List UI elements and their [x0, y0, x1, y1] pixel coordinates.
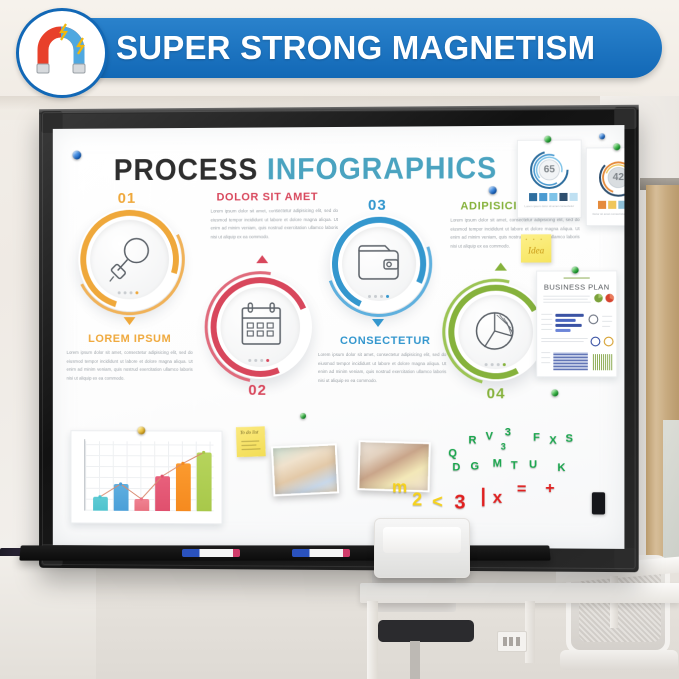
frame-corner — [614, 548, 636, 570]
step-02-dots — [248, 359, 269, 362]
gauge-value-65: 65 — [544, 164, 555, 175]
step-01-number: 01 — [118, 190, 136, 207]
idea-note[interactable]: ✦ ✦ ✦ Idea — [521, 234, 551, 262]
note-rule — [241, 440, 259, 442]
doc-pie-green — [594, 294, 603, 303]
desk-leg — [367, 601, 378, 679]
to-do-list-note[interactable]: To do list — [236, 426, 266, 457]
step-04-arrow-up — [495, 263, 507, 271]
magnetic-whiteboard[interactable]: PROCESS INFOGRAPHICS — [39, 105, 639, 572]
side-cabinet — [0, 556, 96, 679]
doc-text — [543, 296, 590, 297]
step-01-caption: LOREM IPSUM — [88, 333, 171, 345]
gauge-legend-swatches — [529, 193, 578, 201]
chart-plot — [91, 441, 215, 511]
doc-pie-red — [605, 294, 614, 303]
doc-donut — [588, 314, 599, 325]
doc-text — [541, 329, 552, 330]
marker-tray[interactable] — [19, 545, 550, 560]
letter-tile[interactable]: 3 — [505, 426, 511, 438]
doc-text — [602, 321, 612, 322]
step-04-body: Lorem ipsum dolor sit amet, consectetur … — [450, 216, 579, 251]
black-smartphone[interactable] — [592, 492, 605, 514]
magnet-dot-blue[interactable] — [72, 151, 81, 160]
business-plan-document[interactable]: BUSINESS PLAN — [536, 270, 617, 377]
step-01-arrow-down — [124, 317, 136, 325]
gauge-legend-swatches — [598, 201, 624, 209]
letter-tile[interactable]: Q — [448, 447, 457, 459]
magnet-dot-blue[interactable] — [599, 133, 605, 139]
doc-text — [602, 316, 612, 317]
doc-text — [543, 299, 588, 300]
title-process: PROCESS — [114, 151, 258, 187]
step-02-body: Lorem ipsum dolor sit amet, consectetur … — [211, 207, 338, 242]
doc-hbar — [555, 319, 575, 322]
calendar-icon — [236, 301, 286, 351]
step-03-body: Lorem ipsum dolor sit amet, consectetur … — [318, 351, 446, 385]
doc-text — [541, 352, 550, 353]
whiteboard-surface[interactable]: PROCESS INFOGRAPHICS — [53, 125, 625, 549]
doc-text — [541, 362, 550, 363]
step-01-ring[interactable] — [78, 208, 181, 312]
letter-tile[interactable]: 2 — [412, 489, 422, 510]
dry-erase-marker[interactable] — [182, 549, 240, 557]
letter-tile[interactable]: T — [511, 460, 518, 472]
wallet-icon — [354, 241, 404, 287]
doc-text — [541, 314, 552, 315]
magnet-dot-green[interactable] — [551, 389, 558, 396]
gauge-card-caption: Lorem ipsum dolor sit amet consectetur — [518, 204, 581, 209]
step-03-dots — [368, 295, 389, 298]
page-title: PROCESS INFOGRAPHICS — [114, 150, 497, 188]
step-01-body: Lorem ipsum dolor sit amet, consectetur … — [67, 349, 193, 383]
business-plan-title: BUSINESS PLAN — [537, 283, 616, 292]
note-rule — [242, 448, 261, 450]
gauge-card-42[interactable]: 42 Dolor sit amet consectetur adipisicin… — [586, 147, 625, 226]
step-01-dots — [118, 291, 139, 294]
letter-tile[interactable]: M — [493, 458, 502, 470]
wall-outlet — [497, 631, 527, 652]
doc-donut — [603, 336, 614, 347]
doc-text — [602, 326, 610, 327]
promo-banner: SUPER STRONG MAGNETISM — [48, 18, 662, 78]
promo-banner-text: SUPER STRONG MAGNETISM — [116, 29, 595, 67]
step-02-number: 02 — [248, 382, 267, 399]
letter-tile[interactable]: G — [470, 461, 479, 473]
to-do-list-text: To do list — [240, 431, 258, 437]
note-rule — [241, 445, 256, 446]
magnet-dot-green[interactable] — [544, 136, 551, 143]
doc-heatmap — [553, 352, 587, 370]
magnet-dot-green[interactable] — [300, 413, 306, 419]
step-03-number: 03 — [368, 197, 387, 214]
magnet-dot-yellow[interactable] — [137, 426, 145, 434]
chair-column — [410, 641, 420, 679]
pie-chart-icon — [470, 307, 520, 357]
letter-tile[interactable]: S — [566, 433, 573, 445]
gauge-value-42: 42 — [613, 172, 624, 183]
doc-area-chart — [593, 354, 613, 370]
letter-tile[interactable]: < — [432, 491, 443, 512]
letter-tile[interactable]: 3 — [501, 442, 506, 452]
chart-trendline — [91, 441, 215, 511]
magnet-dot-green[interactable] — [572, 266, 579, 273]
doc-hbar — [555, 324, 581, 327]
dry-erase-marker[interactable] — [292, 549, 350, 557]
bar-chart-card[interactable] — [70, 430, 222, 524]
letter-tile[interactable]: | — [481, 486, 486, 508]
doc-hbar — [555, 314, 583, 317]
step-04-dots — [485, 363, 506, 366]
letter-tile[interactable]: U — [529, 459, 537, 471]
step-03-caption: CONSECTETUR — [340, 335, 431, 347]
magnet-badge — [16, 8, 108, 98]
chair-seat-center — [378, 620, 474, 642]
birthday-party-photo[interactable] — [271, 443, 339, 496]
door-glass-panel — [663, 420, 679, 570]
magnet-dot-blue[interactable] — [489, 186, 497, 194]
letter-tile[interactable]: X — [549, 435, 556, 447]
doc-text — [541, 319, 552, 320]
step-03-ring[interactable] — [330, 215, 428, 313]
doc-header-rule — [563, 278, 589, 279]
letter-tile[interactable]: K — [557, 462, 565, 474]
magnet-dot-green[interactable] — [613, 143, 620, 150]
letter-tile[interactable]: m — [392, 477, 407, 497]
step-02-arrow-up — [256, 255, 268, 263]
step-02-ring[interactable] — [209, 275, 312, 379]
doc-text — [541, 341, 584, 342]
doc-text — [541, 357, 550, 358]
product-scene: PROCESS INFOGRAPHICS — [0, 0, 679, 679]
gauge-card-65[interactable]: 65 Lorem ipsum dolor sit amet consectetu… — [517, 139, 582, 218]
step-02-caption: DOLOR SIT AMET — [217, 191, 319, 203]
letter-tile[interactable]: R — [468, 434, 476, 446]
whiteboard-eraser[interactable] — [374, 518, 470, 578]
doc-hbar — [555, 329, 570, 332]
letter-tile[interactable]: 3 — [454, 492, 465, 515]
desk-front — [360, 583, 679, 603]
idea-note-text: Idea — [528, 245, 544, 255]
doc-donut — [590, 336, 601, 347]
letter-tile[interactable]: x — [493, 488, 503, 508]
step-03-arrow-down — [372, 319, 384, 327]
letter-tile[interactable]: = — [517, 481, 526, 499]
horseshoe-magnet-icon — [30, 20, 92, 82]
letter-tile[interactable]: F — [533, 432, 540, 444]
step-04-ring[interactable] — [446, 283, 545, 382]
gauge-card-caption: Dolor sit amet consectetur adipisicing e… — [587, 212, 625, 217]
doc-text — [543, 302, 591, 303]
title-infographics: INFOGRAPHICS — [267, 150, 497, 186]
photo-image — [273, 445, 337, 494]
chair-seat-right — [560, 650, 678, 670]
doc-text — [541, 338, 588, 339]
magnifier-icon — [106, 234, 155, 284]
step-04-number: 04 — [487, 385, 506, 402]
letter-tile[interactable]: + — [545, 480, 554, 498]
doc-text — [541, 324, 552, 325]
letter-tile[interactable]: V — [486, 430, 493, 442]
letter-tile[interactable]: D — [452, 461, 460, 473]
chart-y-axis — [84, 439, 85, 510]
